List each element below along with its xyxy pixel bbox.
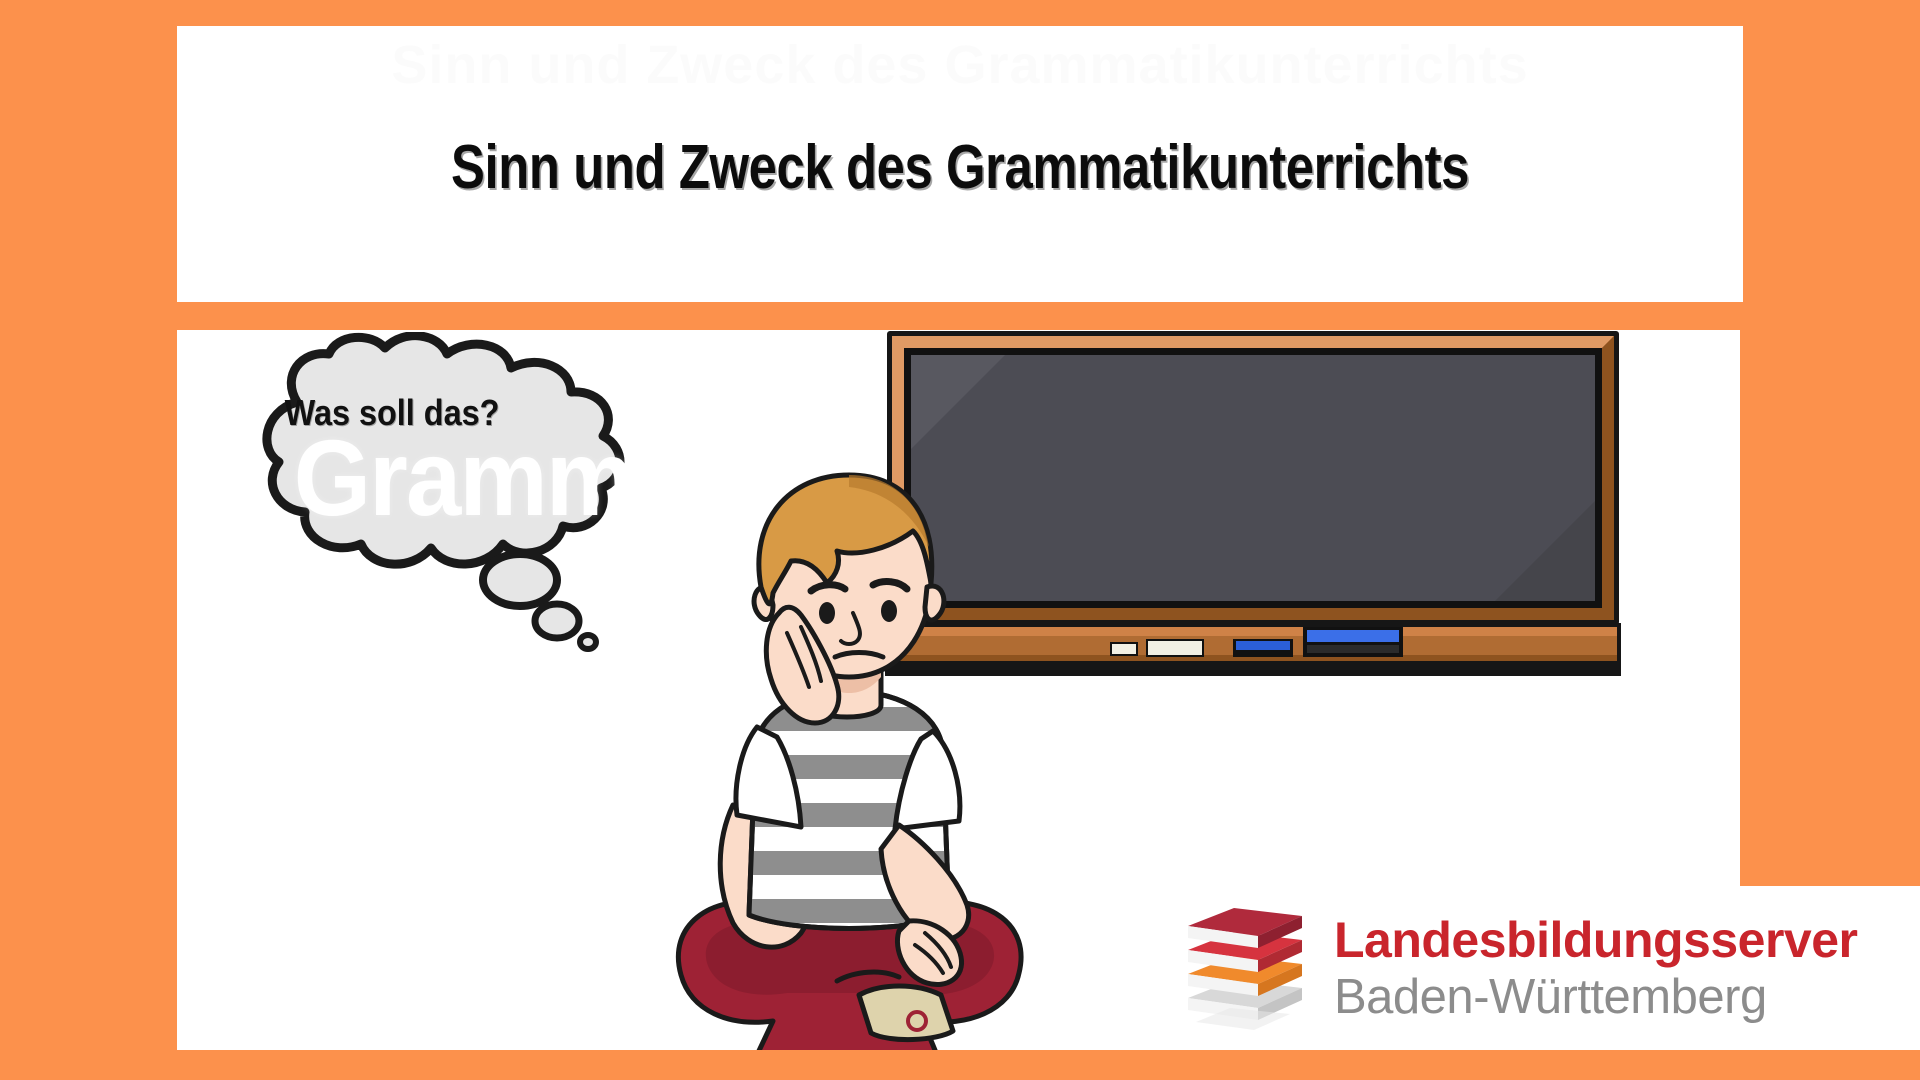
title-watermark-text: Sinn und Zweck des Grammatikunterrichts xyxy=(177,34,1743,96)
book-stack-icon xyxy=(1182,902,1310,1034)
boy-eye-left xyxy=(819,602,835,624)
slide-canvas: Sinn und Zweck des Grammatikunterrichts … xyxy=(0,0,1920,1080)
page-title: Sinn und Zweck des Grammatikunterrichts xyxy=(318,131,1602,205)
eraser-blue-large-band-icon xyxy=(1307,645,1399,653)
chalk-small-icon xyxy=(1111,643,1137,655)
logo-secondary-text: Baden-Württemberg xyxy=(1334,973,1858,1022)
boy-shoe xyxy=(859,986,953,1040)
boy-ear-right xyxy=(925,586,944,620)
logo-wordmark: Landesbildungsserver Baden-Württemberg xyxy=(1334,915,1858,1022)
eraser-blue-small-felt-icon xyxy=(1236,641,1290,650)
logo-primary-text: Landesbildungsserver xyxy=(1334,915,1858,965)
thought-bubble-trail-dot-small xyxy=(575,630,601,654)
boy-eye-right xyxy=(881,600,897,622)
thinking-boy-illustration xyxy=(637,455,1057,1050)
eraser-blue-large-felt-icon xyxy=(1307,630,1399,642)
title-panel: Sinn und Zweck des Grammatikunterrichts … xyxy=(177,26,1743,302)
chalk-long-icon xyxy=(1147,640,1203,656)
landesbildungsserver-logo-panel[interactable]: Landesbildungsserver Baden-Württemberg xyxy=(1160,886,1920,1050)
